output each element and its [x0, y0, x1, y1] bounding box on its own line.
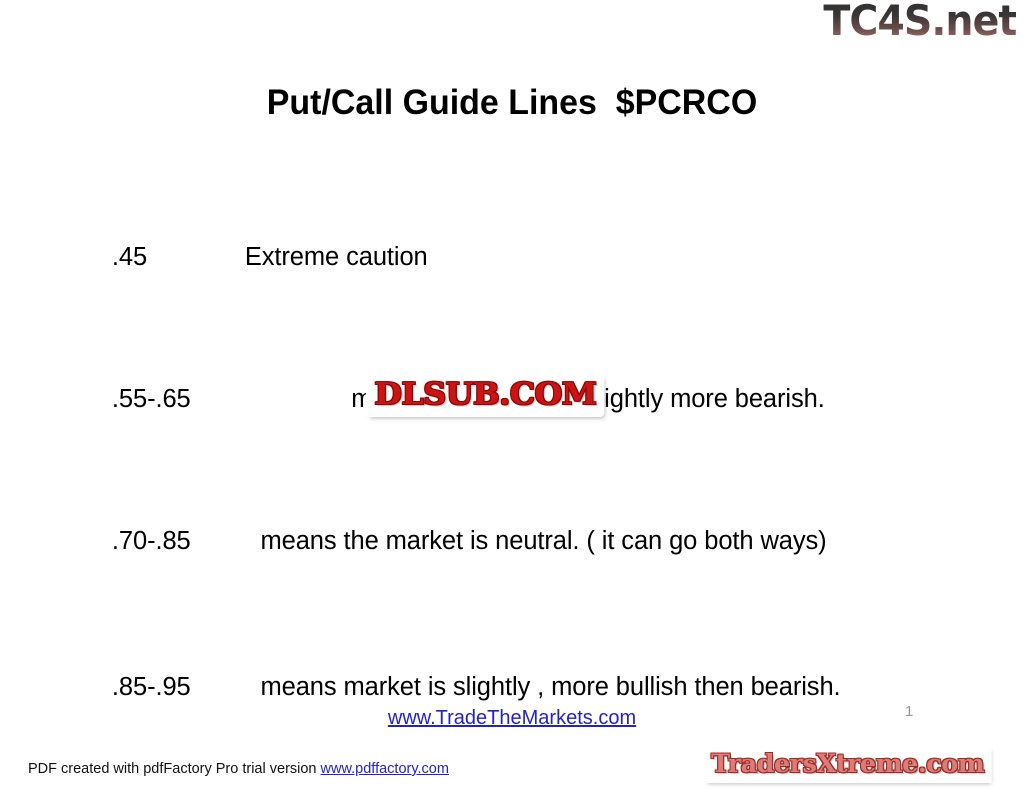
guide-description: Extreme caution: [245, 243, 428, 271]
dlsub-watermark: DLSUB.COM: [368, 376, 603, 415]
list-item: .70-.85 means the market is neutral. ( i…: [70, 487, 950, 595]
page-number: 1: [905, 703, 913, 721]
guide-gap: [191, 385, 352, 413]
guide-description: means market is slightly , more bullish …: [260, 673, 840, 701]
trade-the-markets-link[interactable]: www.TradeTheMarkets.com: [388, 707, 636, 729]
tradersxtreme-logo: TradersXtreme.com: [706, 748, 989, 781]
guide-description: means the market is neutral. ( it can go…: [260, 527, 826, 555]
guide-range-value: .55-.65: [112, 385, 191, 413]
footer-link-container: www.TradeTheMarkets.com: [0, 705, 1024, 731]
pdffactory-link[interactable]: www.pdffactory.com: [321, 761, 449, 777]
guide-gap: [191, 527, 261, 555]
guide-gap: [191, 673, 261, 701]
guide-gap: [147, 243, 245, 271]
guide-range-value: .45: [112, 243, 147, 271]
list-item: .45 Extreme caution: [70, 203, 950, 311]
guide-range-value: .85-.95: [112, 673, 191, 701]
pdf-factory-notice-text: PDF created with pdfFactory Pro trial ve…: [28, 761, 321, 777]
guide-lines-list: .45 Extreme caution .55-.65 means the ma…: [70, 203, 950, 791]
guide-range-value: .70-.85: [112, 527, 191, 555]
page-title: Put/Call Guide Lines $PCRCO: [15, 82, 1008, 124]
slide-canvas: TC4S.net Put/Call Guide Lines $PCRCO .45…: [0, 0, 1024, 791]
tc4s-logo: TC4S.net: [823, 0, 1016, 44]
pdf-factory-notice: PDF created with pdfFactory Pro trial ve…: [28, 760, 449, 779]
